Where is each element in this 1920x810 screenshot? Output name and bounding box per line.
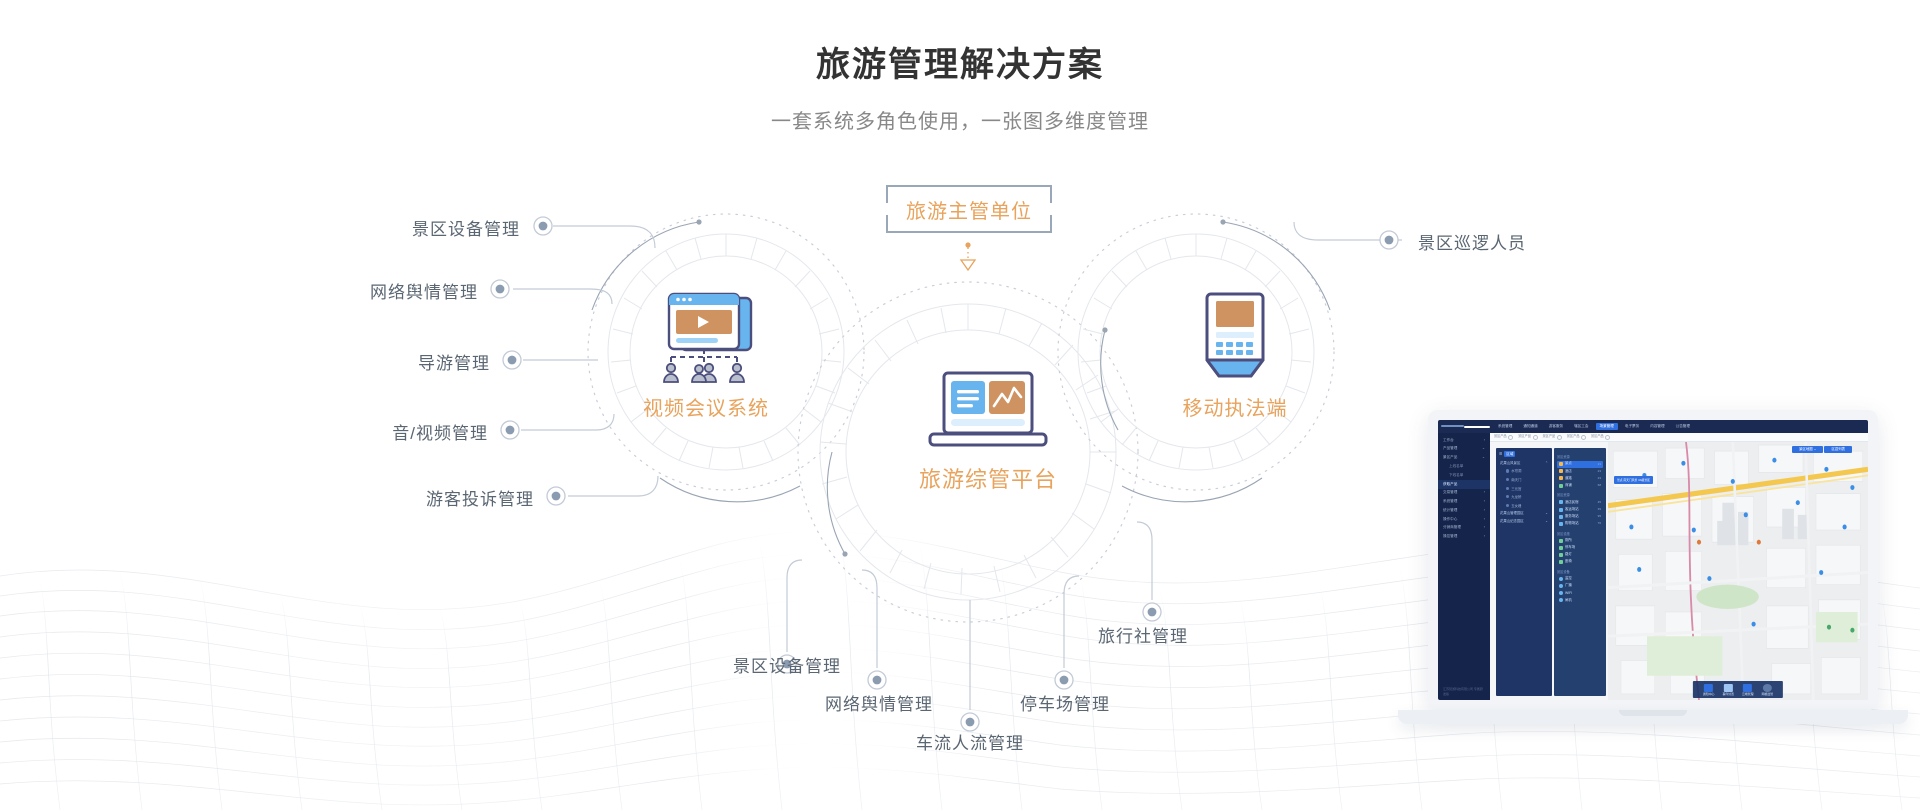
homestay-icon bbox=[1559, 500, 1563, 504]
event-handling-icon bbox=[1724, 684, 1733, 692]
node-label-video-conference: 视频会议系统 bbox=[606, 392, 806, 421]
app-topbar: 系统管理 通知通道 游客服务 辖区工会 场景管理 电子票务 内容管理 公告管理 bbox=[1438, 420, 1868, 433]
map-control-1[interactable]: 区县列表 bbox=[1824, 446, 1852, 453]
tab-1[interactable]: 景区产品 bbox=[1518, 435, 1537, 440]
nav-item-5[interactable]: 电子票务 bbox=[1621, 423, 1643, 431]
label-bottom-2[interactable]: 网络舆情管理 bbox=[816, 690, 942, 715]
cloud-management-icon bbox=[1743, 684, 1752, 692]
chevron-right-icon: › bbox=[1484, 439, 1485, 443]
legend-item-2-0[interactable]: 厕所 bbox=[1557, 537, 1603, 544]
tree-header-label: 区域 bbox=[1504, 451, 1515, 457]
laptop-mockup: 系统管理 通知通道 游客服务 辖区工会 场景管理 电子票务 内容管理 公告管理 bbox=[1398, 410, 1908, 770]
tree-label-0: 花果山风景区 bbox=[1500, 462, 1520, 465]
legend-group-title-0: 景区资源 bbox=[1557, 454, 1603, 459]
legend-item-3-3[interactable]: 闸机 bbox=[1557, 597, 1603, 604]
app-tabs: 景区产品 景区产品 景区产品 景区产品 景区产品 bbox=[1490, 433, 1868, 442]
nav-item-0[interactable]: 系统管理 bbox=[1494, 423, 1516, 431]
node-video-conference[interactable]: 视频会议系统 bbox=[606, 290, 806, 421]
wifi-icon bbox=[1559, 591, 1563, 595]
shopping-station-icon bbox=[1559, 522, 1563, 526]
label-right-1[interactable]: 景区巡逻人员 bbox=[1418, 229, 1526, 254]
nav-item-3[interactable]: 辖区工会 bbox=[1570, 423, 1592, 431]
legend-item-0-2[interactable]: 道路 23 bbox=[1557, 475, 1603, 482]
tab-0[interactable]: 景区产品 bbox=[1494, 435, 1513, 440]
legend-item-3-0[interactable]: 监控 bbox=[1557, 575, 1603, 582]
road-icon bbox=[1559, 476, 1563, 480]
legend-item-3-1[interactable]: 广播 bbox=[1557, 582, 1603, 589]
label-left-3[interactable]: 导游管理 bbox=[270, 349, 490, 374]
chevron-right-icon: › bbox=[1484, 526, 1485, 530]
sidebar-item-0[interactable]: 工作台 › bbox=[1438, 436, 1490, 445]
sidebar-label-4: 下线名单 bbox=[1449, 474, 1463, 478]
map-action-0[interactable]: 通知中心 bbox=[1703, 684, 1715, 696]
label-bottom-4[interactable]: 停车场管理 bbox=[1002, 690, 1128, 715]
legend-item-0-1[interactable]: 酒店 23 bbox=[1557, 468, 1603, 475]
legend-item-1-1[interactable]: 客运场站 39 bbox=[1557, 506, 1603, 513]
legend-item-0-3[interactable]: 商铺 68 bbox=[1557, 482, 1603, 489]
chevron-right-icon: › bbox=[1484, 509, 1485, 513]
map-bottom-bar: 通知中心 事件处置 云端管理 bbox=[1693, 681, 1783, 698]
legend-item-2-2[interactable]: 路灯 bbox=[1557, 551, 1603, 558]
sidebar-label-7: 系统管理 bbox=[1443, 500, 1457, 504]
chevron-down-icon: ⌄ bbox=[1482, 456, 1485, 460]
legend-item-2-3[interactable]: 座椅 bbox=[1557, 559, 1603, 566]
legend-item-1-3[interactable]: 购物场站 76 bbox=[1557, 520, 1603, 527]
label-bottom-1[interactable]: 景区设备管理 bbox=[724, 652, 850, 677]
map-poi-card: 景点 南天门风景 3A级景区 bbox=[1614, 476, 1653, 484]
label-left-2[interactable]: 网络舆情管理 bbox=[258, 278, 478, 303]
tab-3[interactable]: 景区产品 bbox=[1567, 435, 1586, 440]
toilet-icon bbox=[1559, 539, 1563, 543]
laptop-dashboard-icon bbox=[926, 370, 1050, 452]
sidebar-label-1: 产品管理 bbox=[1443, 447, 1457, 451]
node-tourism-platform[interactable]: 旅游综管平台 bbox=[868, 370, 1108, 494]
legend-item-0-0[interactable]: 景点 23 bbox=[1557, 461, 1603, 468]
legend-group-title-2: 景区设施 bbox=[1557, 531, 1603, 536]
tab-2[interactable]: 景区产品 bbox=[1543, 435, 1562, 440]
sidebar-label-5: 获取产品 bbox=[1443, 483, 1457, 487]
bench-icon bbox=[1559, 560, 1563, 564]
notification-center-icon bbox=[1704, 684, 1713, 692]
tree-row-3[interactable]: 三元宫 bbox=[1499, 485, 1549, 494]
nav-item-2[interactable]: 游客服务 bbox=[1545, 423, 1567, 431]
app-window: 系统管理 通知通道 游客服务 辖区工会 场景管理 电子票务 内容管理 公告管理 bbox=[1438, 420, 1868, 700]
chevron-right-icon: › bbox=[1484, 500, 1485, 504]
edge-top bbox=[902, 185, 1036, 187]
close-icon[interactable] bbox=[1557, 435, 1562, 440]
sidebar-item-2[interactable]: 景区产品 ⌄ bbox=[1438, 454, 1490, 463]
laptop-notch bbox=[1619, 710, 1687, 716]
legend-item-1-0[interactable]: 酒店民宿 45 bbox=[1557, 499, 1603, 506]
node-label-mobile-enforcement: 移动执法端 bbox=[1135, 392, 1335, 421]
app-body: 工作台 › 产品管理 ⌄ 景区产品 ⌄ bbox=[1438, 433, 1868, 700]
sidebar-item-10[interactable]: 分销商管理 › bbox=[1438, 524, 1490, 533]
node-mobile-enforcement[interactable]: 移动执法端 bbox=[1135, 290, 1335, 421]
tab-4[interactable]: 景区产品 bbox=[1591, 435, 1610, 440]
legend-item-1-2[interactable]: 服务场站 95 bbox=[1557, 513, 1603, 520]
camera-icon bbox=[1559, 577, 1563, 581]
authority-label: 旅游主管单位 bbox=[906, 195, 1032, 224]
node-label-tourism-platform: 旅游综管平台 bbox=[868, 462, 1108, 494]
hotel-icon bbox=[1559, 469, 1563, 473]
legend-item-3-2[interactable]: WIFI bbox=[1557, 590, 1603, 597]
tree-row-7[interactable]: 花果山纪念园区 ⌄ bbox=[1499, 518, 1549, 525]
authority-box: 旅游主管单位 bbox=[886, 185, 1052, 233]
label-left-1[interactable]: 景区设备管理 bbox=[300, 215, 520, 240]
edge-bottom bbox=[902, 231, 1036, 233]
sidebar-label-2: 景区产品 bbox=[1443, 456, 1457, 460]
tree-header: ☰ 区域 bbox=[1499, 451, 1549, 457]
sidebar-footer: 江苏慧游科技有限公司 专属研发版 bbox=[1438, 683, 1490, 700]
bullet-icon bbox=[1506, 469, 1509, 472]
label-left-5[interactable]: 游客投诉管理 bbox=[314, 485, 534, 510]
video-window-icon bbox=[647, 290, 765, 386]
close-icon[interactable] bbox=[1533, 435, 1538, 440]
sidebar-label-9: 操作中心 bbox=[1443, 518, 1457, 522]
corner-top-right bbox=[1034, 185, 1052, 203]
app-nav: 系统管理 通知通道 游客服务 辖区工会 场景管理 电子票务 内容管理 公告管理 bbox=[1490, 423, 1694, 431]
chevron-down-icon: ⌄ bbox=[1545, 520, 1548, 523]
legend-item-2-1[interactable]: 停车场 bbox=[1557, 544, 1603, 551]
corner-top-left bbox=[886, 185, 904, 203]
sidebar-label-6: 交易管理 bbox=[1443, 491, 1457, 495]
page-root: 旅游管理解决方案 一套系统多角色使用，一张图多维度管理 bbox=[0, 0, 1920, 810]
legend-group-title-3: 景区设备 bbox=[1557, 569, 1603, 574]
map-view[interactable]: 景点 南天门风景 3A级景区 景区地图 ⌄ 区县列表 通知中心 bbox=[1608, 442, 1868, 700]
laptop-screen: 系统管理 通知通道 游客服务 辖区工会 场景管理 电子票务 内容管理 公告管理 bbox=[1438, 420, 1868, 700]
transit-station-icon bbox=[1559, 508, 1563, 512]
app-canvas: 景点 南天门风景 3A级景区 景区地图 ⌄ 区县列表 通知中心 bbox=[1490, 442, 1868, 700]
tree-row-5[interactable]: 玉女峰 bbox=[1499, 502, 1549, 511]
scenic-spot-icon bbox=[1559, 462, 1563, 466]
tree-label-6: 花果山管理园区 bbox=[1500, 512, 1524, 515]
broadcast-icon bbox=[1559, 584, 1563, 588]
close-icon[interactable] bbox=[1581, 435, 1586, 440]
map-controls: 景区地图 ⌄ 区县列表 bbox=[1792, 446, 1852, 453]
sidebar-item-1[interactable]: 产品管理 ⌄ bbox=[1438, 445, 1490, 454]
grid-supervision-icon bbox=[1763, 684, 1772, 692]
label-bottom-5[interactable]: 旅行社管理 bbox=[1043, 622, 1243, 647]
sidebar-label-11: 操控管理 bbox=[1443, 535, 1457, 539]
tree-row-6[interactable]: 花果山管理园区 ⌄ bbox=[1499, 510, 1549, 517]
bullet-icon bbox=[1506, 495, 1509, 498]
map-control-0[interactable]: 景区地图 ⌄ bbox=[1792, 446, 1823, 453]
legend-group-title-1: 景区资源 bbox=[1557, 492, 1603, 497]
close-icon[interactable] bbox=[1605, 435, 1610, 440]
sidebar-label-0: 工作台 bbox=[1443, 439, 1454, 443]
sidebar-label-3: 上线名单 bbox=[1449, 465, 1463, 469]
legend-panel: 景区资源 景点 23 酒店 23 bbox=[1554, 448, 1606, 696]
shop-icon bbox=[1559, 484, 1563, 488]
tree-row-1[interactable]: 水帘洞 bbox=[1499, 467, 1549, 476]
nav-item-7[interactable]: 公告管理 bbox=[1672, 423, 1694, 431]
sidebar-item-9[interactable]: 操作中心 › bbox=[1438, 515, 1490, 524]
sidebar-label-8: 统计管理 bbox=[1443, 509, 1457, 513]
tree-row-2[interactable]: 南天门 bbox=[1499, 476, 1549, 485]
page-title: 旅游管理解决方案 bbox=[0, 0, 1920, 87]
menu-icon[interactable]: ☰ bbox=[1499, 452, 1502, 456]
laptop-lid: 系统管理 通知通道 游客服务 辖区工会 场景管理 电子票务 内容管理 公告管理 bbox=[1428, 410, 1878, 710]
sidebar-item-4[interactable]: 下线名单 bbox=[1438, 471, 1490, 480]
corner-bottom-right bbox=[1034, 215, 1052, 233]
bullet-icon bbox=[1506, 487, 1509, 490]
close-icon[interactable] bbox=[1508, 435, 1513, 440]
bullet-icon bbox=[1506, 504, 1509, 507]
chevron-right-icon: › bbox=[1484, 491, 1485, 495]
streetlight-icon bbox=[1559, 553, 1563, 557]
map-action-1[interactable]: 事件处置 bbox=[1722, 684, 1734, 696]
handheld-terminal-icon bbox=[1197, 290, 1273, 386]
chevron-right-icon: › bbox=[1484, 535, 1485, 539]
sidebar-item-7[interactable]: 系统管理 › bbox=[1438, 497, 1490, 506]
sidebar-item-5[interactable]: 获取产品 bbox=[1438, 480, 1490, 489]
gate-icon bbox=[1559, 598, 1563, 602]
sidebar-item-6[interactable]: 交易管理 › bbox=[1438, 489, 1490, 498]
chevron-right-icon: › bbox=[1484, 518, 1485, 522]
nav-item-1[interactable]: 通知通道 bbox=[1519, 423, 1541, 431]
tree-row-0[interactable]: 花果山风景区 ⌃ bbox=[1499, 460, 1549, 467]
chevron-up-icon: ⌃ bbox=[1545, 462, 1548, 465]
label-bottom-3[interactable]: 车流人流管理 bbox=[907, 729, 1033, 754]
sidebar-label-10: 分销商管理 bbox=[1443, 526, 1461, 530]
map-action-2[interactable]: 云端管理 bbox=[1742, 684, 1754, 696]
chevron-down-icon: ⌄ bbox=[1545, 512, 1548, 515]
nav-item-6[interactable]: 内容管理 bbox=[1646, 423, 1668, 431]
sidebar-item-3[interactable]: 上线名单 bbox=[1438, 462, 1490, 471]
app-sidebar: 工作台 › 产品管理 ⌄ 景区产品 ⌄ bbox=[1438, 433, 1490, 700]
bullet-icon bbox=[1506, 478, 1509, 481]
parking-icon bbox=[1559, 546, 1563, 550]
sidebar-item-11[interactable]: 操控管理 › bbox=[1438, 533, 1490, 542]
page-subtitle: 一套系统多角色使用，一张图多维度管理 bbox=[0, 87, 1920, 134]
nav-item-4[interactable]: 场景管理 bbox=[1596, 423, 1618, 431]
tree-row-4[interactable]: 九龙桥 bbox=[1499, 493, 1549, 502]
service-station-icon bbox=[1559, 515, 1563, 519]
map-action-3[interactable]: 网格监管 bbox=[1762, 684, 1774, 696]
page-header: 旅游管理解决方案 一套系统多角色使用，一张图多维度管理 bbox=[0, 0, 1920, 134]
region-tree-panel: ☰ 区域 花果山风景区 ⌃ 水帘洞 bbox=[1496, 448, 1552, 696]
app-main: 景区产品 景区产品 景区产品 景区产品 景区产品 bbox=[1490, 433, 1868, 700]
app-logo bbox=[1438, 420, 1490, 433]
sidebar-item-8[interactable]: 统计管理 › bbox=[1438, 506, 1490, 515]
chevron-down-icon: ⌄ bbox=[1482, 447, 1485, 451]
label-left-4[interactable]: 音/视频管理 bbox=[268, 419, 488, 444]
tree-label-7: 花果山纪念园区 bbox=[1500, 520, 1524, 523]
